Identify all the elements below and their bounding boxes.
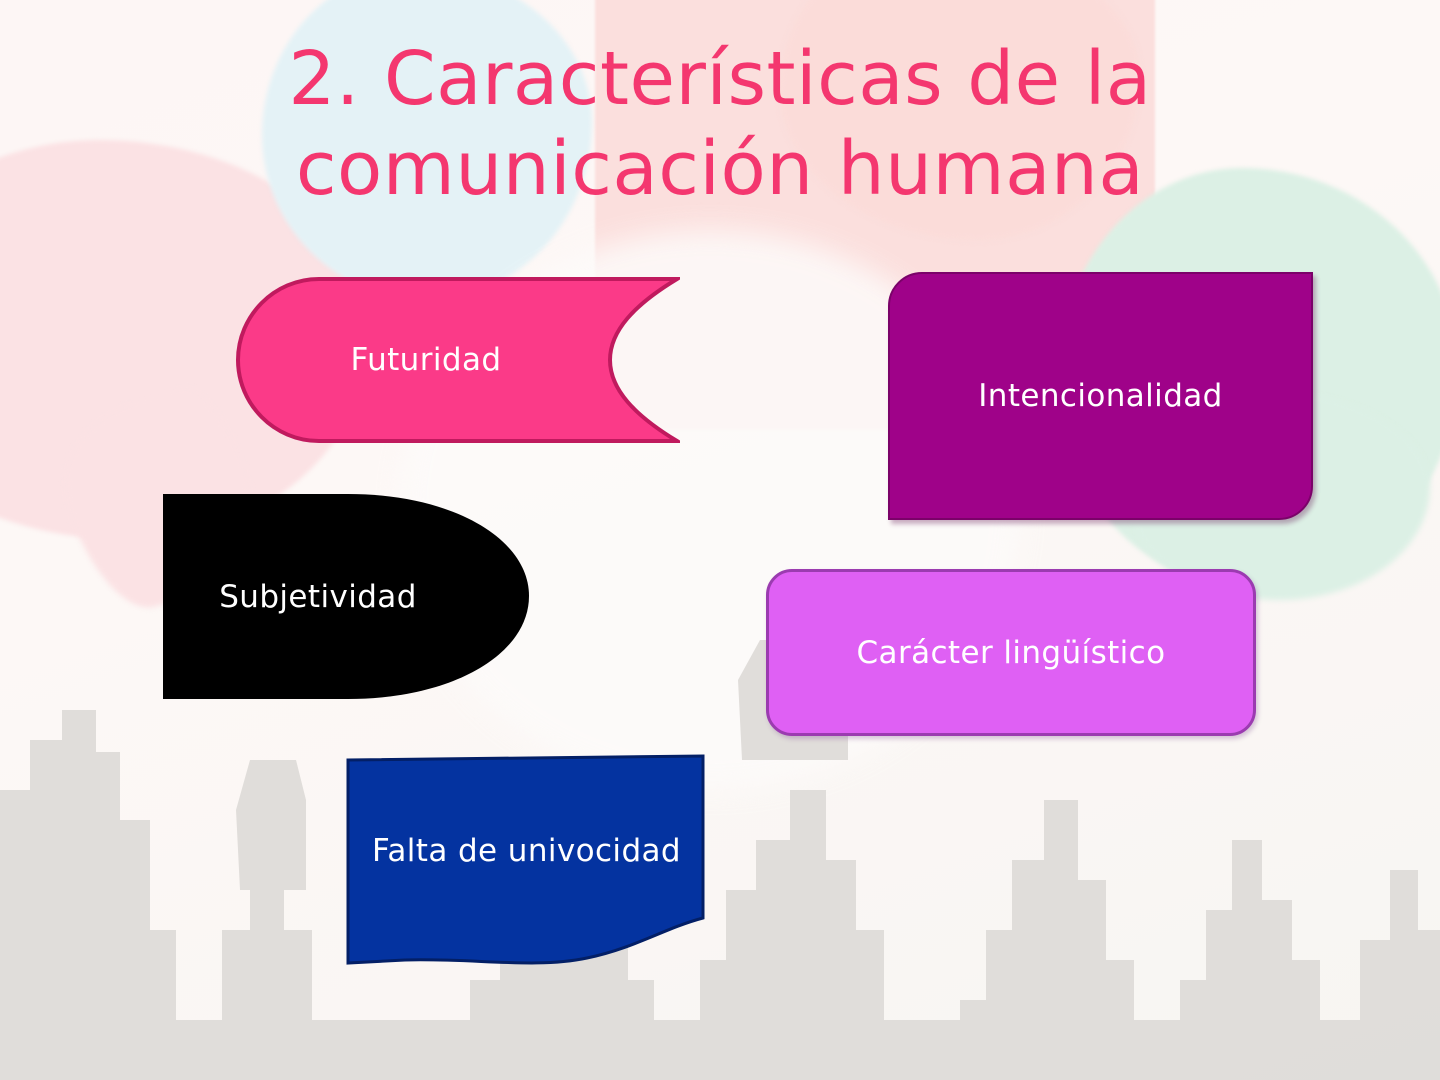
callout-label: Falta de univocidad: [372, 833, 681, 869]
callout-label: Subjetividad: [219, 579, 417, 615]
callout-falta-de-univocidad[interactable]: Falta de univocidad: [345, 752, 708, 968]
callout-label: Futuridad: [351, 342, 502, 378]
callout-caracter-linguistico[interactable]: Carácter lingüístico: [766, 569, 1256, 736]
slide-title: 2. Características de la comunicación hu…: [0, 34, 1440, 215]
callout-subjetividad[interactable]: Subjetividad: [163, 491, 531, 702]
callout-intencionalidad[interactable]: Intencionalidad: [888, 272, 1313, 520]
callout-futuridad[interactable]: Futuridad: [234, 275, 680, 445]
callout-label: Intencionalidad: [978, 378, 1223, 414]
callout-label: Carácter lingüístico: [857, 635, 1166, 671]
presentation-slide: 2. Características de la comunicación hu…: [0, 0, 1440, 1080]
